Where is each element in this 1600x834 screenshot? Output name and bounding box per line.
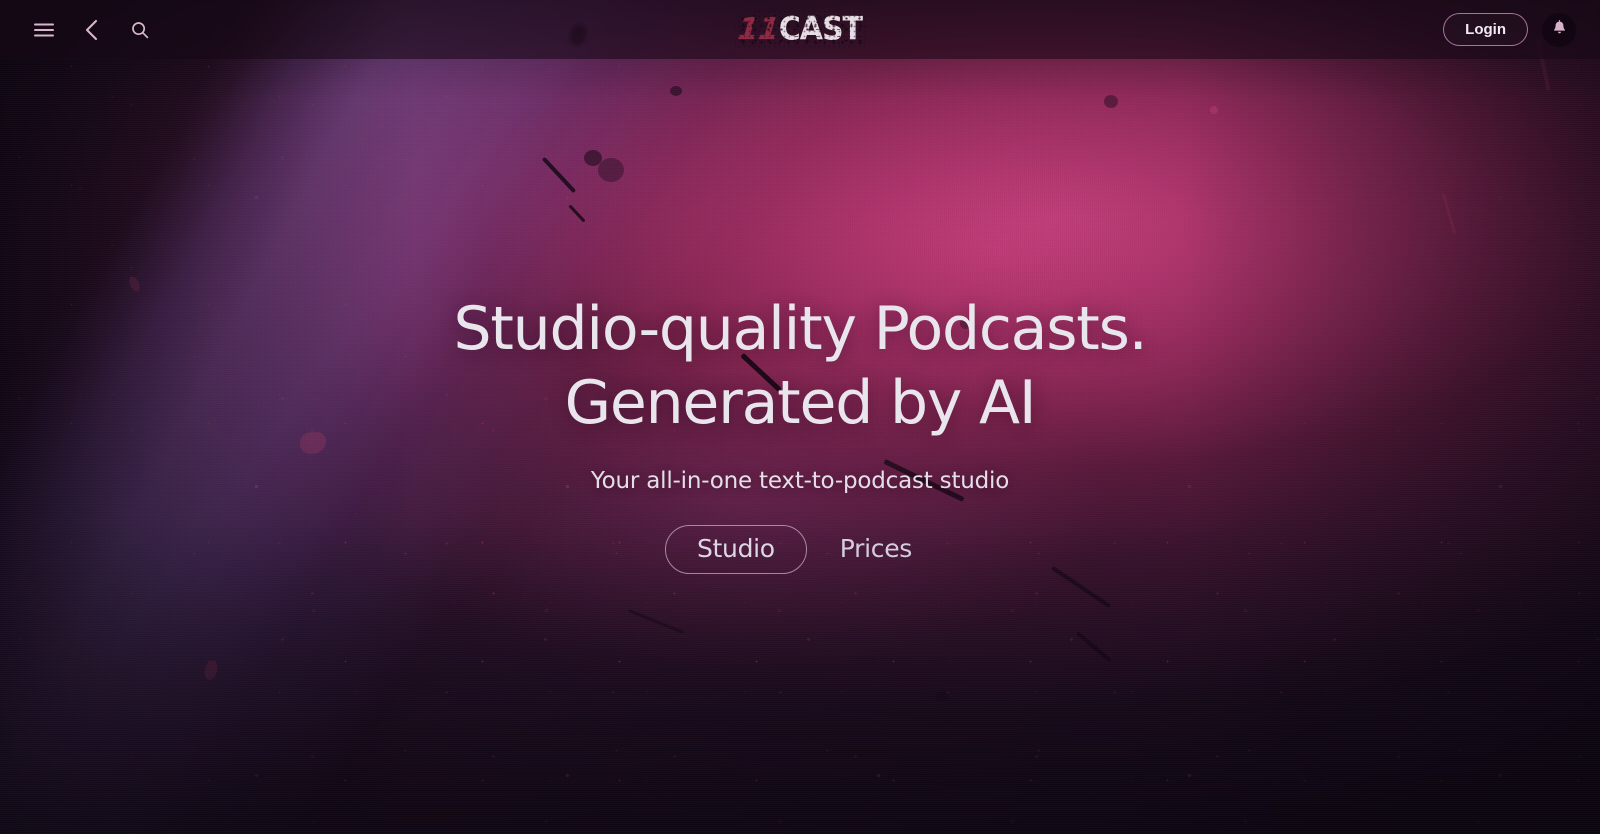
hero-title-line-2: Generated by AI	[453, 373, 1146, 433]
bell-icon	[1552, 20, 1567, 39]
header-logo-container: 11CAST	[0, 0, 1600, 59]
studio-button[interactable]: Studio	[665, 525, 807, 574]
login-button[interactable]: Login	[1443, 13, 1528, 46]
top-header-bar: 11CAST Login	[0, 0, 1600, 59]
page-root: 11CAST Login Studio-quality Podcasts. G	[0, 0, 1600, 834]
hero-cta-group: Studio Prices	[665, 525, 935, 574]
logo-prefix: 11	[736, 15, 780, 45]
app-logo[interactable]: 11CAST	[738, 15, 862, 45]
hero-title-line-1: Studio-quality Podcasts.	[453, 299, 1146, 359]
header-right-controls: Login	[1443, 13, 1600, 47]
hamburger-menu-icon[interactable]	[30, 16, 58, 44]
search-icon[interactable]	[126, 16, 154, 44]
logo-suffix: CAST	[779, 14, 862, 46]
page-title: Studio-quality Podcasts. Generated by AI	[453, 299, 1146, 433]
notifications-button[interactable]	[1542, 13, 1576, 47]
header-left-controls	[0, 16, 154, 44]
hero-subtitle: Your all-in-one text-to-podcast studio	[591, 468, 1009, 494]
back-chevron-icon[interactable]	[78, 16, 106, 44]
prices-button[interactable]: Prices	[817, 525, 935, 574]
